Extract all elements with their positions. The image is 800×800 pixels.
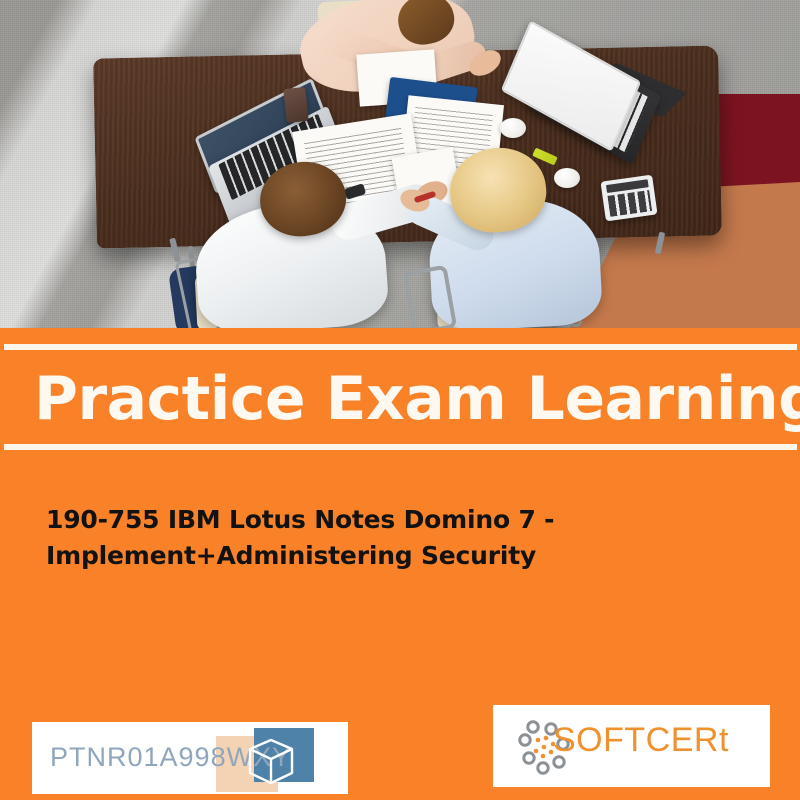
divider-rule-top (4, 344, 797, 350)
softcert-logo: SOFTCERt (493, 705, 770, 787)
exam-title-line-2: Implement+Administering Security (46, 538, 606, 574)
exam-title: 190-755 IBM Lotus Notes Domino 7 - Imple… (46, 502, 606, 573)
cup (500, 118, 526, 138)
calculator-keys (608, 190, 653, 217)
softcert-brand-text: SOFTCERt (553, 721, 729, 760)
exam-title-line-1: 190-755 IBM Lotus Notes Domino 7 - (46, 502, 606, 538)
promo-flyer: Practice Exam Learning 190-755 IBM Lotus… (0, 0, 800, 800)
header-photo (0, 0, 800, 328)
calculator (600, 175, 657, 222)
smartphone (283, 87, 308, 123)
cup (554, 168, 580, 188)
cube-icon (244, 736, 298, 788)
ptnr-logo: PTNR01A998WXY (32, 722, 348, 794)
divider-rule-bottom (4, 444, 797, 450)
page-title: Practice Exam Learning (34, 356, 774, 442)
